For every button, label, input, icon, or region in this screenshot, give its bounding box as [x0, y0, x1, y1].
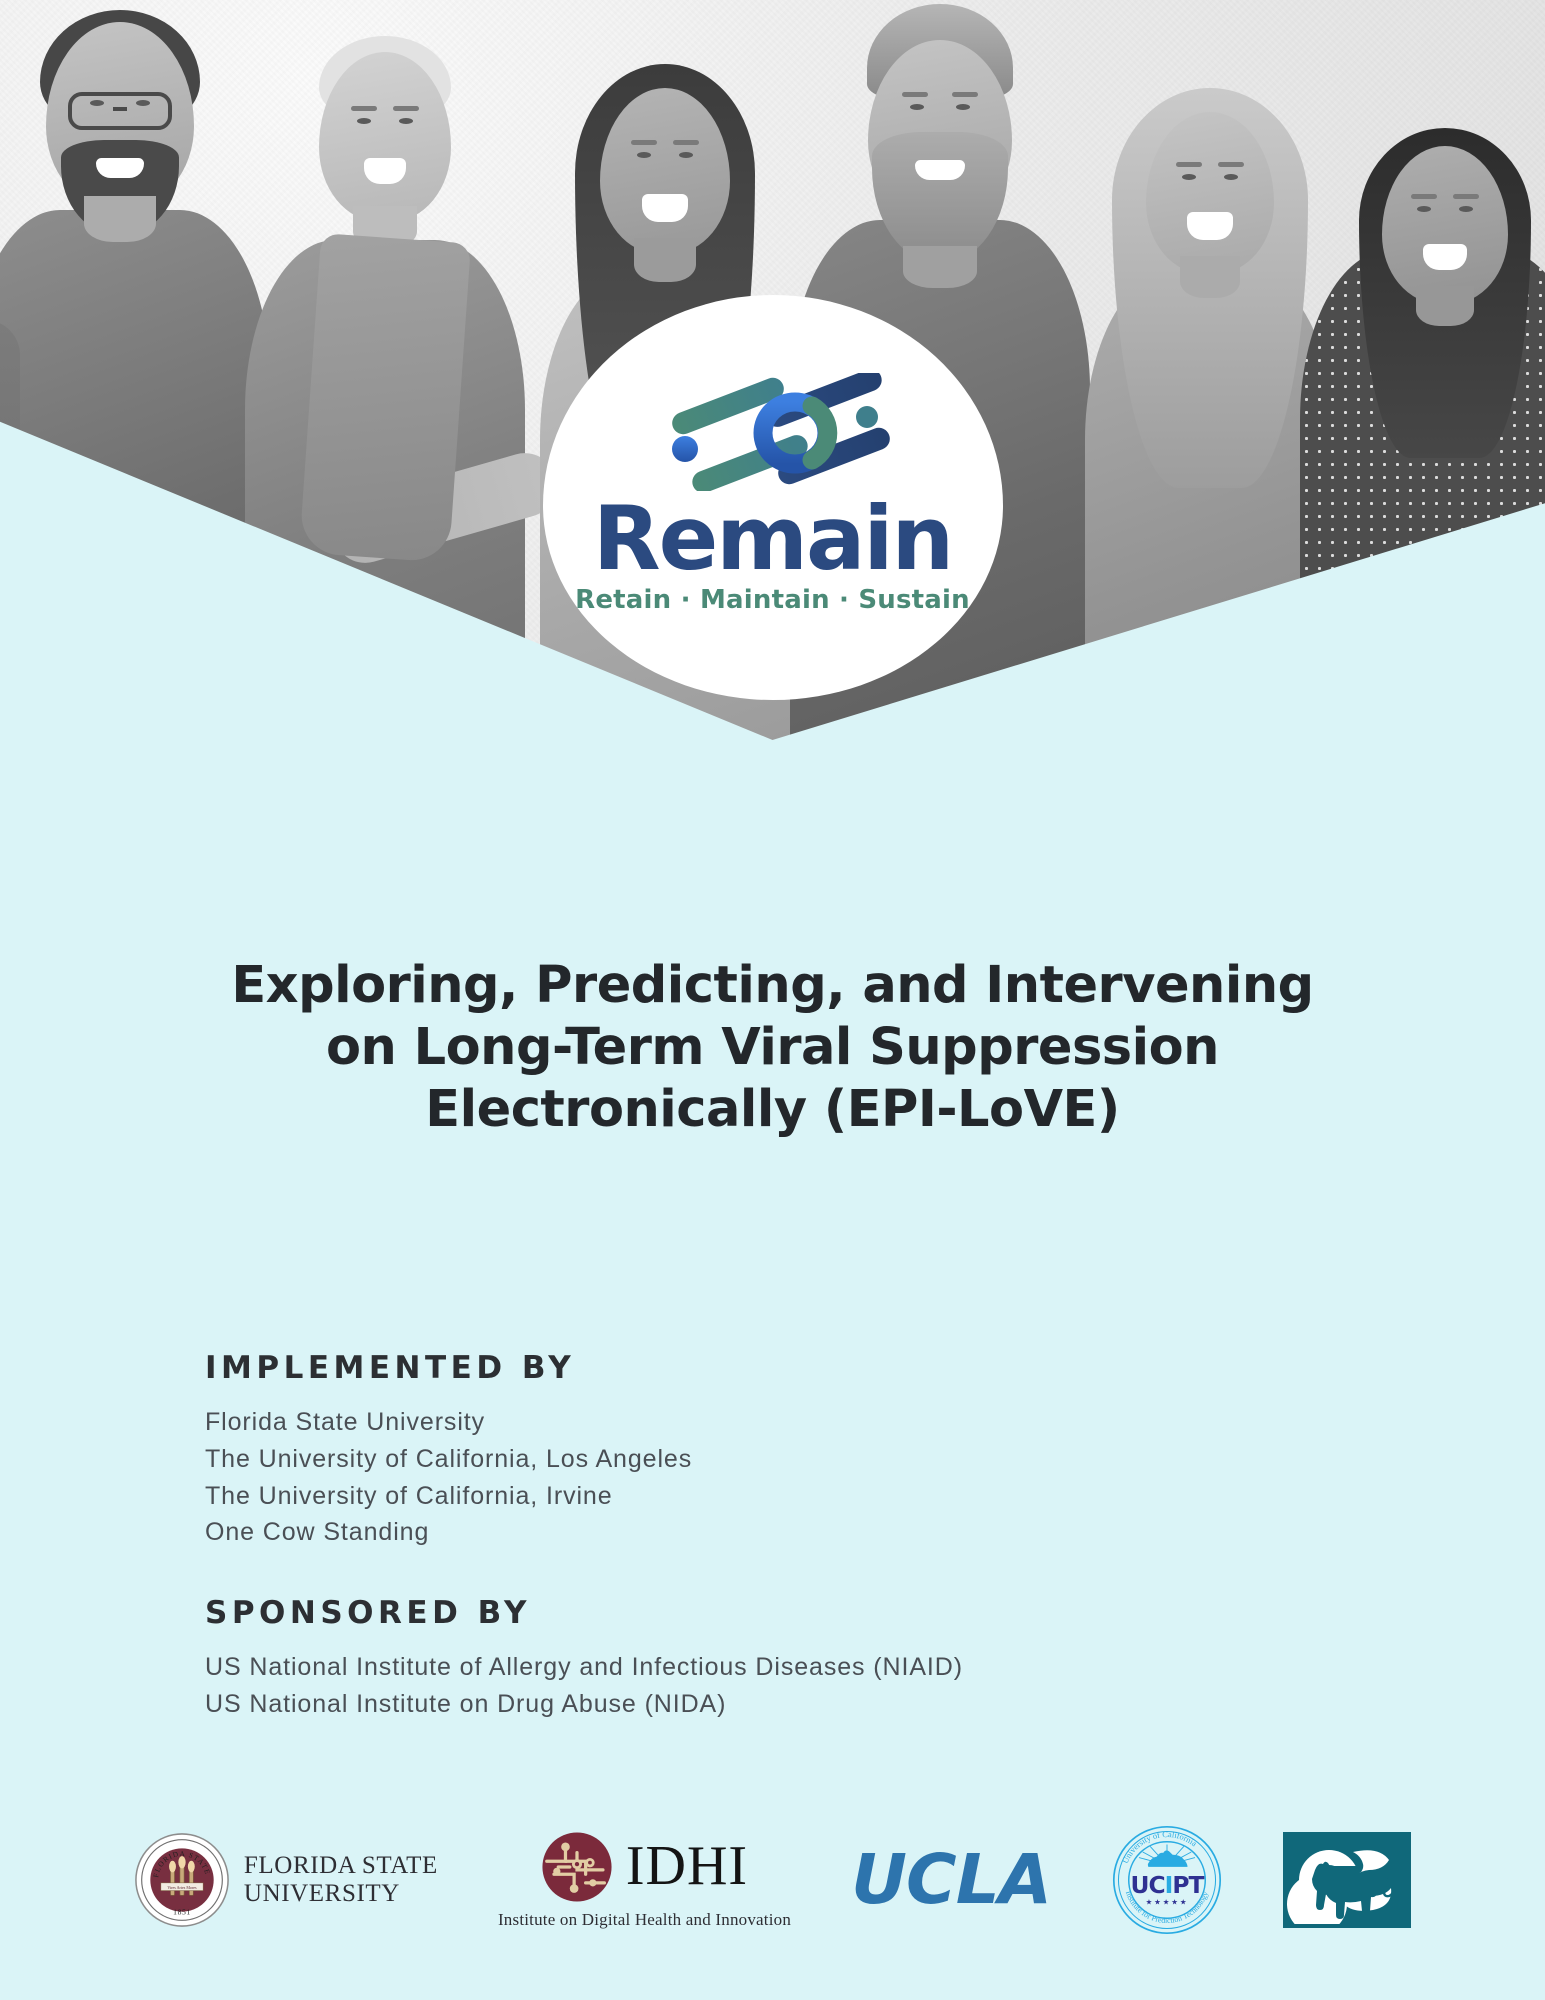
fsu-logo: FLORIDA STATE UNIVERSITY Vires Artes Mo [134, 1832, 438, 1928]
idhi-circuit-icon [541, 1831, 613, 1903]
ucipt-logo: University of California Institute for P… [1111, 1824, 1223, 1936]
ucipt-acronym: UCIPT [1131, 1871, 1205, 1899]
ucla-logo: UCLA [851, 1840, 1051, 1920]
fsu-wordmark: FLORIDA STATE UNIVERSITY [244, 1852, 438, 1908]
ocs-cow-monogram-icon [1287, 1836, 1407, 1924]
list-item: The University of California, Los Angele… [205, 1441, 963, 1478]
poster-page: Remain Retain · Maintain · Sustain Explo… [0, 0, 1545, 2000]
fsu-seal-icon: FLORIDA STATE UNIVERSITY Vires Artes Mo [134, 1832, 230, 1928]
list-item: US National Institute of Allergy and Inf… [205, 1649, 963, 1686]
ocs-badge [1283, 1832, 1411, 1928]
list-item: US National Institute on Drug Abuse (NID… [205, 1686, 963, 1723]
logo-wordmark: Remain [593, 495, 952, 583]
page-title-line-3: Electronically (EPI-LoVE) [0, 1079, 1545, 1141]
idhi-subtitle: Institute on Digital Health and Innovati… [498, 1910, 791, 1930]
scarf [299, 233, 471, 563]
implemented-by-list: Florida State University The University … [205, 1404, 963, 1551]
sponsored-by-heading: SPONSORED BY [205, 1595, 963, 1631]
svg-text:Vires Artes Mores: Vires Artes Mores [167, 1885, 197, 1890]
person-short-haired-woman-with-scarf [240, 0, 530, 740]
page-title: Exploring, Predicting, and Intervening o… [0, 955, 1545, 1142]
remain-interlocking-mark [643, 373, 903, 491]
sponsored-by-list: US National Institute of Allergy and Inf… [205, 1649, 963, 1723]
fsu-wordmark-line-1: FLORIDA STATE [244, 1852, 438, 1880]
idhi-acronym: IDHI [626, 1841, 748, 1891]
partner-logo-row: FLORIDA STATE UNIVERSITY Vires Artes Mo [0, 1805, 1545, 1955]
implemented-by-heading: IMPLEMENTED BY [205, 1350, 963, 1386]
logo-tagline: Retain · Maintain · Sustain [575, 585, 970, 615]
ucla-acronym: UCLA [851, 1840, 1051, 1920]
fsu-wordmark-line-2: UNIVERSITY [244, 1880, 438, 1908]
list-item: The University of California, Irvine [205, 1478, 963, 1515]
ucipt-bear-icon [1148, 1850, 1188, 1866]
page-title-line-2: on Long-Term Viral Suppression [0, 1017, 1545, 1079]
one-cow-standing-logo [1283, 1832, 1411, 1928]
person-in-polka-dot-top [1300, 0, 1545, 740]
ucipt-stars: ★★★★★ [1146, 1897, 1189, 1906]
list-item: Florida State University [205, 1404, 963, 1441]
remain-logo-badge: Remain Retain · Maintain · Sustain [543, 295, 1003, 700]
page-title-line-1: Exploring, Predicting, and Intervening [0, 955, 1545, 1017]
credits-block: IMPLEMENTED BY Florida State University … [205, 1350, 963, 1723]
list-item: One Cow Standing [205, 1514, 963, 1551]
person-bearded-man-with-glasses [0, 0, 270, 740]
ucipt-seal-icon: University of California Institute for P… [1111, 1824, 1223, 1936]
fsu-seal-year: 1851 [173, 1908, 191, 1917]
idhi-logo: IDHI Institute on Digital Health and Inn… [498, 1831, 791, 1930]
